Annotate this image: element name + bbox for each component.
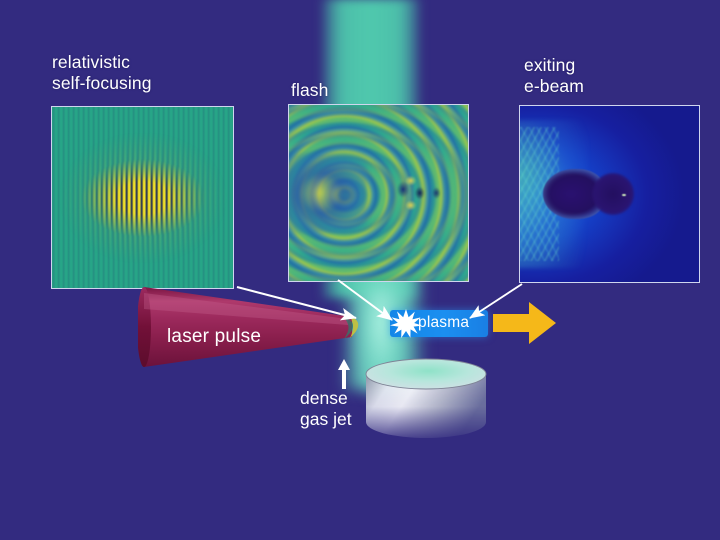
panel-label-self-focusing: relativistic self-focusing (52, 52, 152, 94)
e-beam-secondary-bubble (592, 173, 634, 215)
teal-beam-glow-core (352, 290, 410, 400)
e-beam-electron-bunch (622, 194, 626, 196)
flash-core (288, 153, 367, 233)
self-focusing-core (78, 158, 208, 238)
panel-self-focusing[interactable] (51, 106, 234, 289)
gas-jet-direction-arrow (336, 359, 352, 389)
gas-jet-nozzle (363, 358, 489, 442)
panel-label-exiting-e-beam: exiting e-beam (524, 55, 584, 97)
panel-label-flash: flash (291, 80, 328, 101)
figure-canvas: relativistic self-focusing flash exiting… (0, 0, 720, 540)
panel-flash[interactable] (288, 104, 469, 282)
arrow-self-focusing-to-cone-tip (237, 287, 356, 318)
laser-pulse-label: laser pulse (167, 326, 261, 348)
electron-beam-output-arrow (493, 300, 557, 346)
panel-exiting-e-beam[interactable] (519, 105, 700, 283)
arrow-flash-to-plasma (338, 280, 392, 320)
flash-spike-structure (389, 171, 453, 215)
plasma-label: plasma (418, 314, 469, 332)
dense-gas-jet-label: dense gas jet (300, 388, 352, 430)
